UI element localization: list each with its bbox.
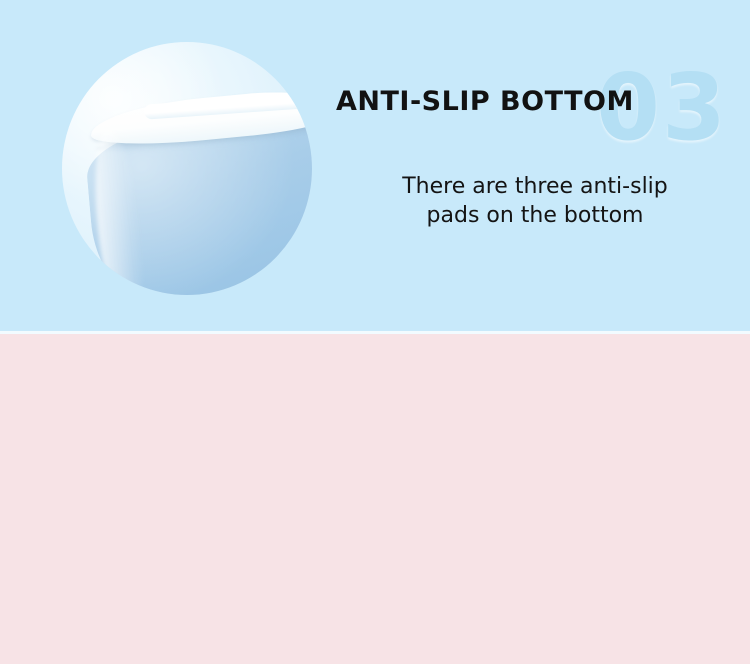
- feature-body-anti-slip-bottom: There are three anti-slip pads on the bo…: [360, 172, 710, 230]
- potty-bottom-closeup-photo: [62, 42, 312, 295]
- feature-heading-anti-slip-bottom: ANTI-SLIP BOTTOM: [336, 88, 634, 115]
- feature-panel-anti-slip-bottom: 03 ANTI-SLIP BOTTOM There are three anti…: [0, 0, 750, 331]
- feature-panel-easy-to-clean: 04 EASY TO CLEAN pp, smooth surface, det…: [0, 334, 750, 664]
- product-feature-infographic: 03 ANTI-SLIP BOTTOM There are three anti…: [0, 0, 750, 664]
